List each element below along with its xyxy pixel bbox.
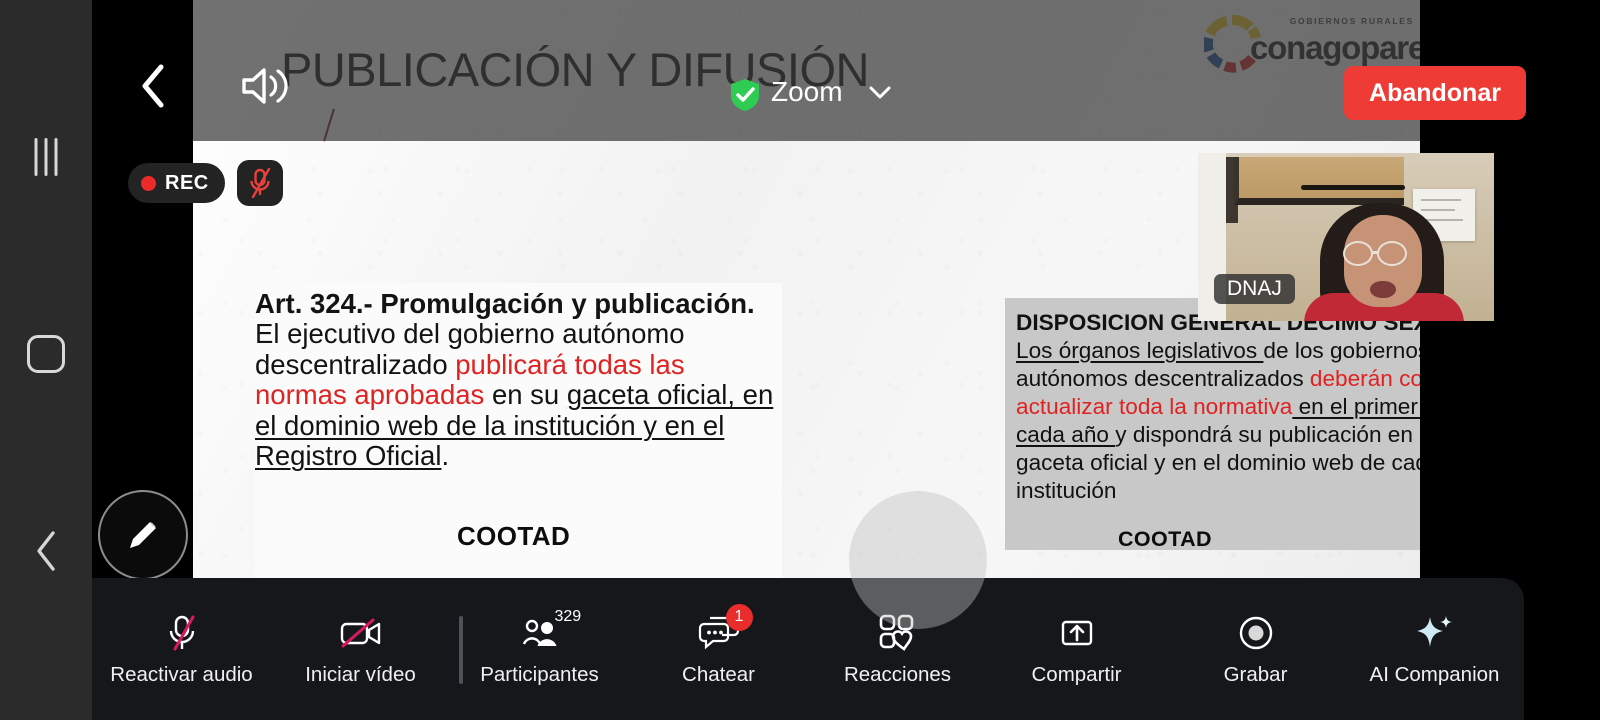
annotate-pencil-button[interactable] xyxy=(98,490,188,580)
toolbar-label: Grabar xyxy=(1224,663,1288,687)
leave-meeting-button[interactable]: Abandonar xyxy=(1344,66,1526,120)
recents-bars-icon[interactable] xyxy=(35,138,58,176)
sparkle-icon xyxy=(1412,612,1458,654)
participant-name-label: DNAJ xyxy=(1214,274,1295,304)
right-text-panel: DISPOSICION GENERAL DÉCIMO SEXTA- Los ór… xyxy=(1005,298,1420,550)
toolbar-label: Chatear xyxy=(682,663,755,687)
participants-count: 329 xyxy=(555,608,582,626)
toolbar-label: Iniciar vídeo xyxy=(305,663,416,687)
system-nav-rail xyxy=(0,0,92,720)
participants-icon: 329 xyxy=(517,612,563,654)
toolbar-label: Reacciones xyxy=(844,663,951,687)
toolbar-item-unmute-audio[interactable]: Reactivar audio xyxy=(92,578,271,720)
reactions-heart-grid-icon xyxy=(875,612,921,654)
toolbar-label: AI Companion xyxy=(1370,663,1500,687)
left-panel-text-3: . xyxy=(441,440,449,471)
speaker-volume-icon[interactable] xyxy=(240,62,292,110)
right-panel-source: COOTAD xyxy=(1118,527,1212,552)
toolbar-item-start-video[interactable]: Iniciar vídeo xyxy=(271,578,450,720)
video-camera-muted-icon xyxy=(338,612,384,654)
chat-bubble-icon: 1 xyxy=(696,612,742,654)
cabinet xyxy=(1234,157,1404,205)
meeting-toolbar: Reactivar audio Iniciar vídeo xyxy=(92,578,1524,720)
left-panel-text-2: en su xyxy=(484,379,567,410)
shield-check-icon[interactable] xyxy=(729,78,761,112)
record-circle-icon xyxy=(1233,612,1279,654)
app-label[interactable]: Zoom xyxy=(771,76,843,108)
annotation-stroke xyxy=(323,108,335,141)
eyeglass-right xyxy=(1377,241,1407,266)
chevron-left-icon[interactable] xyxy=(136,62,170,110)
eyeglass-bridge xyxy=(1372,251,1379,254)
toolbar-item-participants[interactable]: 329 Participantes xyxy=(450,578,629,720)
system-back-chevron-left-icon[interactable] xyxy=(31,528,61,574)
share-upload-icon xyxy=(1054,612,1100,654)
toolbar-item-record[interactable]: Grabar xyxy=(1166,578,1345,720)
recording-indicator[interactable]: REC xyxy=(128,163,225,203)
recording-dot-icon xyxy=(141,176,156,191)
eyeglass-left xyxy=(1343,241,1373,266)
microphone-muted-icon[interactable] xyxy=(237,160,283,206)
toolbar-label: Reactivar audio xyxy=(110,663,252,687)
toolbar-item-ai-companion[interactable]: AI Companion xyxy=(1345,578,1524,720)
chat-unread-badge: 1 xyxy=(726,604,753,631)
zoom-meeting-screen: PUBLICACIÓN Y DIFUSIÓN GOBIERNOS RURALE xyxy=(0,0,1600,720)
microphone-muted-icon xyxy=(159,612,205,654)
toolbar-label: Participantes xyxy=(480,663,599,687)
toolbar-item-share[interactable]: Compartir xyxy=(987,578,1166,720)
cabinet-handle xyxy=(1301,185,1405,190)
logo-wordmark: conagopare xyxy=(1250,29,1420,67)
toolbar-item-reactions[interactable]: Reacciones xyxy=(808,578,987,720)
logo-tagline: GOBIERNOS RURALES xyxy=(1290,16,1414,26)
toolbar-label: Compartir xyxy=(1032,663,1122,687)
left-panel-source: COOTAD xyxy=(457,521,570,552)
right-panel-underline-1: Los órganos legislativos xyxy=(1016,338,1263,363)
right-panel-body: DISPOSICION GENERAL DÉCIMO SEXTA- Los ór… xyxy=(1016,309,1420,505)
person-mouth xyxy=(1370,281,1396,298)
toolbar-item-chat[interactable]: 1 Chatear xyxy=(629,578,808,720)
home-square-icon[interactable] xyxy=(27,335,65,373)
recording-label: REC xyxy=(165,172,209,195)
meeting-stage: PUBLICACIÓN Y DIFUSIÓN GOBIERNOS RURALE xyxy=(92,0,1600,720)
chevron-down-icon[interactable] xyxy=(868,85,892,100)
participant-video-thumbnail[interactable]: DNAJ xyxy=(1198,153,1494,321)
left-panel-heading: Art. 324.- Promulgación y publicación. xyxy=(255,288,755,319)
left-panel-body: Art. 324.- Promulgación y publicación. E… xyxy=(255,289,782,471)
